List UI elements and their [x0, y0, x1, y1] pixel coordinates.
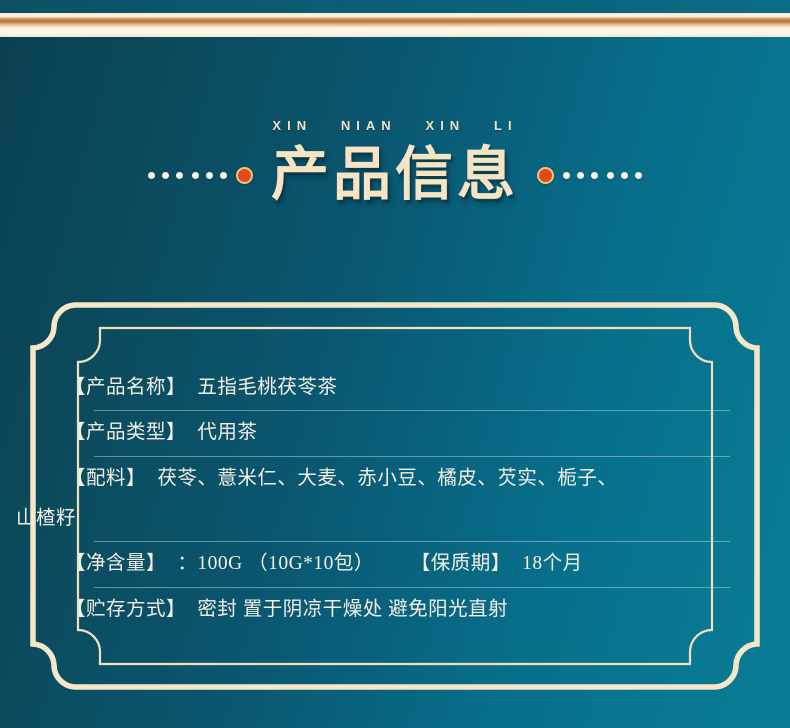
large-dot-icon	[236, 167, 253, 184]
info-label: 【贮存方式】	[66, 599, 186, 620]
small-dot-icon	[563, 172, 570, 179]
info-value: 代用茶	[197, 422, 257, 443]
small-dot-icon	[206, 172, 213, 179]
topbar-teal-strip	[0, 0, 790, 13]
info-value: ：100G （10G*10包）	[177, 553, 374, 574]
info-row-net-weight: 【净含量】 ：100G （10G*10包） 【保质期】 18个月	[66, 542, 734, 587]
top-decorative-bar	[0, 0, 790, 37]
info-value: 茯苓、薏米仁、大麦、赤小豆、橘皮、芡实、栀子、	[157, 468, 617, 489]
page-header: XIN NIAN XIN LI 产品信息	[0, 118, 790, 204]
info-value-shelf-life: 18个月	[522, 553, 583, 574]
small-dot-icon	[621, 172, 628, 179]
small-dot-icon	[577, 172, 584, 179]
info-row-product-type: 【产品类型】 代用茶	[66, 411, 734, 456]
info-label-shelf-life: 【保质期】	[411, 553, 511, 574]
info-value: 密封 置于阴凉干燥处 避免阳光直射	[197, 599, 508, 620]
small-dot-icon	[607, 172, 614, 179]
topbar-gold-strip	[0, 13, 790, 37]
info-value: 五指毛桃茯苓茶	[197, 377, 337, 398]
small-dot-icon	[148, 172, 155, 179]
left-dot-decoration	[148, 167, 253, 184]
page-title: 产品信息	[271, 146, 519, 204]
small-dot-icon	[220, 172, 227, 179]
info-row-storage: 【贮存方式】 密封 置于阴凉干燥处 避免阳光直射	[66, 588, 734, 633]
small-dot-icon	[591, 172, 598, 179]
product-info-page: XIN NIAN XIN LI 产品信息	[0, 0, 790, 728]
info-row-product-name: 【产品名称】 五指毛桃茯苓茶	[66, 366, 734, 411]
dot-trio	[192, 172, 227, 179]
title-row: 产品信息	[0, 146, 790, 204]
info-label: 【产品名称】	[66, 377, 186, 398]
info-value-continued: 山楂籽	[16, 506, 734, 532]
info-label: 【产品类型】	[66, 422, 186, 443]
large-dot-icon	[537, 167, 554, 184]
dot-trio	[148, 172, 183, 179]
info-label: 【净含量】	[66, 553, 166, 574]
small-dot-icon	[162, 172, 169, 179]
product-info-list: 【产品名称】 五指毛桃茯苓茶 【产品类型】 代用茶 【配料】 茯苓、薏米仁、大麦…	[66, 366, 734, 633]
right-dot-decoration	[537, 167, 642, 184]
small-dot-icon	[635, 172, 642, 179]
small-dot-icon	[176, 172, 183, 179]
header-pinyin: XIN NIAN XIN LI	[0, 118, 790, 133]
small-dot-icon	[192, 172, 199, 179]
dot-trio	[607, 172, 642, 179]
info-label: 【配料】	[66, 468, 146, 489]
info-row-ingredients: 【配料】 茯苓、薏米仁、大麦、赤小豆、橘皮、芡实、栀子、 山楂籽	[66, 457, 734, 543]
dot-trio	[563, 172, 598, 179]
